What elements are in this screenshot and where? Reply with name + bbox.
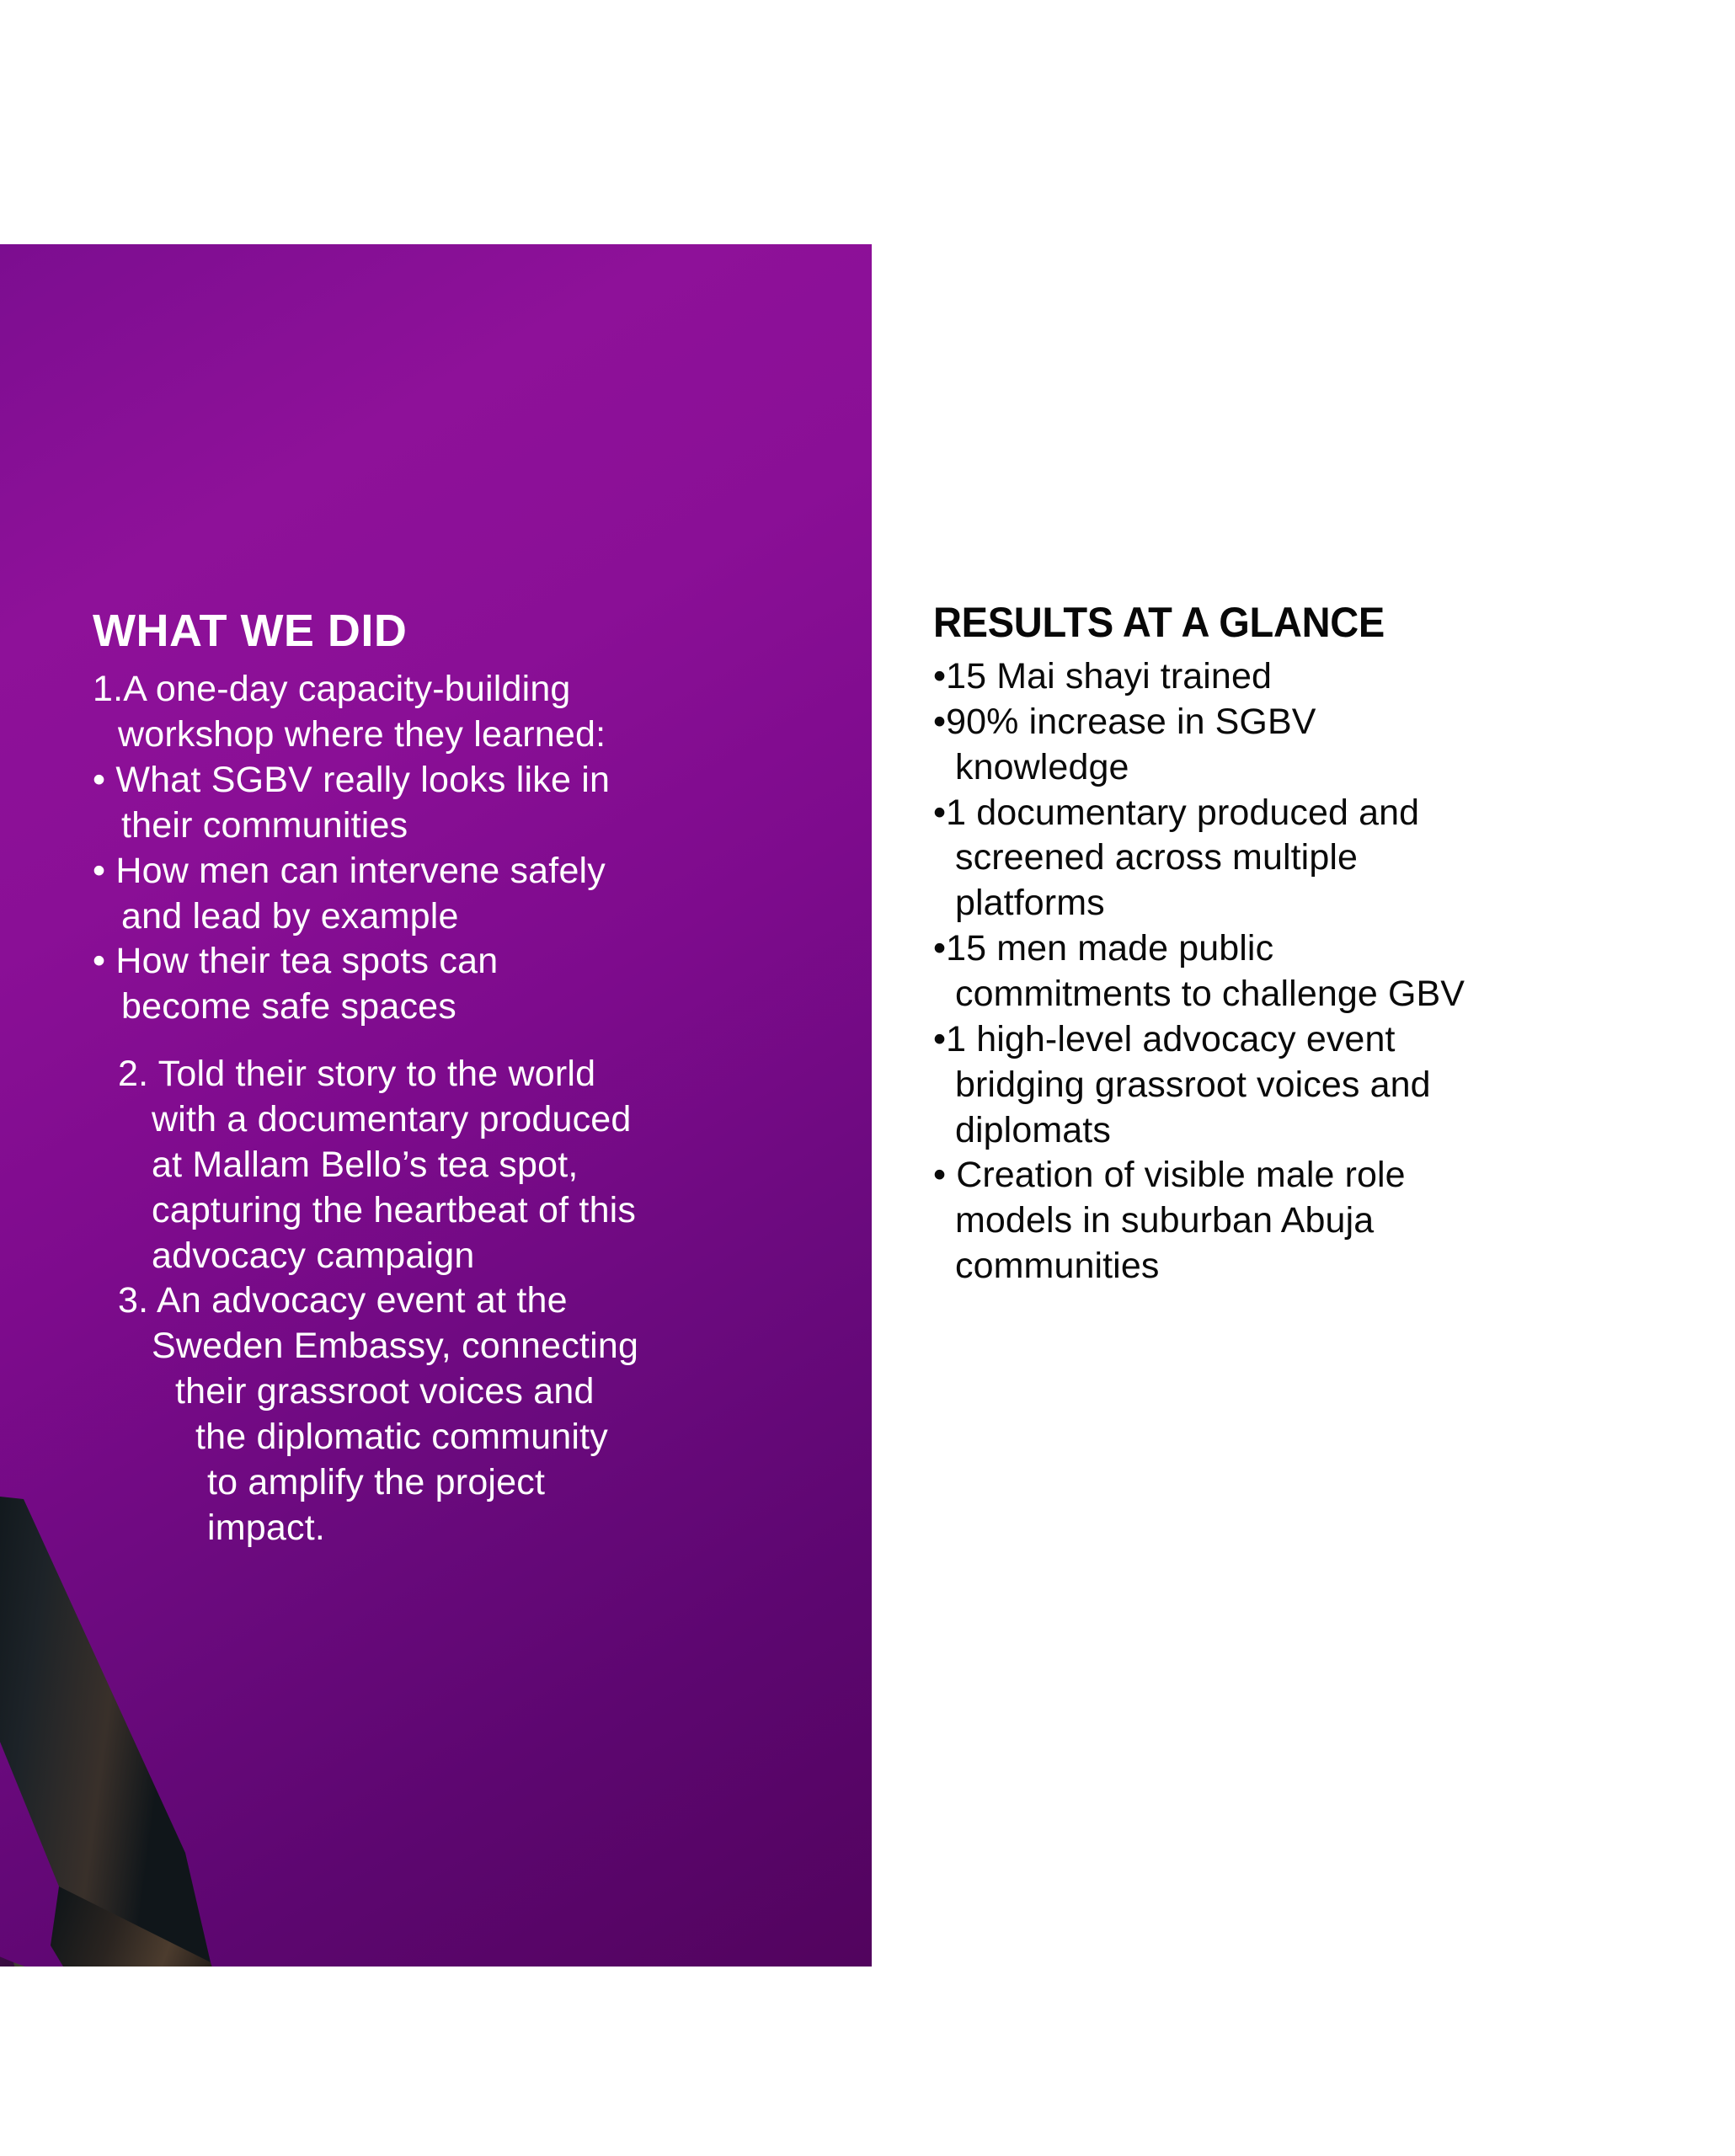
- results-line: •1 documentary produced and: [933, 791, 1674, 836]
- what-we-did-line: workshop where they learned:: [93, 712, 834, 758]
- results-line: diplomats: [933, 1108, 1674, 1154]
- what-we-did-line: 3. An advocacy event at the: [93, 1278, 834, 1324]
- what-we-did-line: • What SGBV really looks like in: [93, 758, 834, 803]
- what-we-did-line: 2. Told their story to the world: [93, 1052, 834, 1097]
- what-we-did-line: Sweden Embassy, connecting: [93, 1324, 834, 1369]
- results-line: bridging grassroot voices and: [933, 1063, 1674, 1108]
- results-line: models in suburban Abuja: [933, 1198, 1674, 1244]
- what-we-did-line: • How their tea spots can: [93, 939, 834, 985]
- what-we-did-line: • How men can intervene safely: [93, 849, 834, 894]
- what-we-did-line: impact.: [93, 1506, 834, 1551]
- results-line: •15 men made public: [933, 926, 1674, 972]
- results-line: commitments to challenge GBV: [933, 972, 1674, 1017]
- raised-arm-figure-photo: [0, 1491, 404, 1967]
- what-we-did-line: with a documentary produced: [93, 1097, 834, 1143]
- results-line: communities: [933, 1244, 1674, 1289]
- results-at-a-glance-body: •15 Mai shayi trained•90% increase in SG…: [933, 654, 1674, 1289]
- what-we-did-line: at Mallam Bello’s tea spot,: [93, 1143, 834, 1188]
- results-at-a-glance-section: RESULTS AT A GLANCE •15 Mai shayi traine…: [933, 600, 1674, 1289]
- results-line: knowledge: [933, 745, 1674, 791]
- what-we-did-line: [93, 1030, 834, 1052]
- what-we-did-line: to amplify the project: [93, 1460, 834, 1506]
- what-we-did-line: 1.A one-day capacity-building: [93, 667, 834, 712]
- what-we-did-heading: WHAT WE DID: [93, 606, 834, 655]
- results-line: •15 Mai shayi trained: [933, 654, 1674, 700]
- what-we-did-line: and lead by example: [93, 894, 834, 940]
- results-line: platforms: [933, 881, 1674, 926]
- what-we-did-line: the diplomatic community: [93, 1415, 834, 1460]
- results-at-a-glance-heading: RESULTS AT A GLANCE: [933, 600, 1630, 646]
- what-we-did-line: their communities: [93, 803, 834, 849]
- results-line: screened across multiple: [933, 835, 1674, 881]
- results-line: •1 high-level advocacy event: [933, 1017, 1674, 1063]
- results-line: •90% increase in SGBV: [933, 700, 1674, 745]
- what-we-did-line: their grassroot voices and: [93, 1369, 834, 1415]
- purple-content-panel: WHAT WE DID 1.A one-day capacity-buildin…: [0, 244, 872, 1967]
- what-we-did-line: advocacy campaign: [93, 1234, 834, 1279]
- results-line: • Creation of visible male role: [933, 1153, 1674, 1198]
- what-we-did-line: become safe spaces: [93, 985, 834, 1030]
- what-we-did-line: capturing the heartbeat of this: [93, 1188, 834, 1234]
- what-we-did-body: 1.A one-day capacity-buildingworkshop wh…: [93, 667, 834, 1550]
- what-we-did-section: WHAT WE DID 1.A one-day capacity-buildin…: [93, 606, 834, 1551]
